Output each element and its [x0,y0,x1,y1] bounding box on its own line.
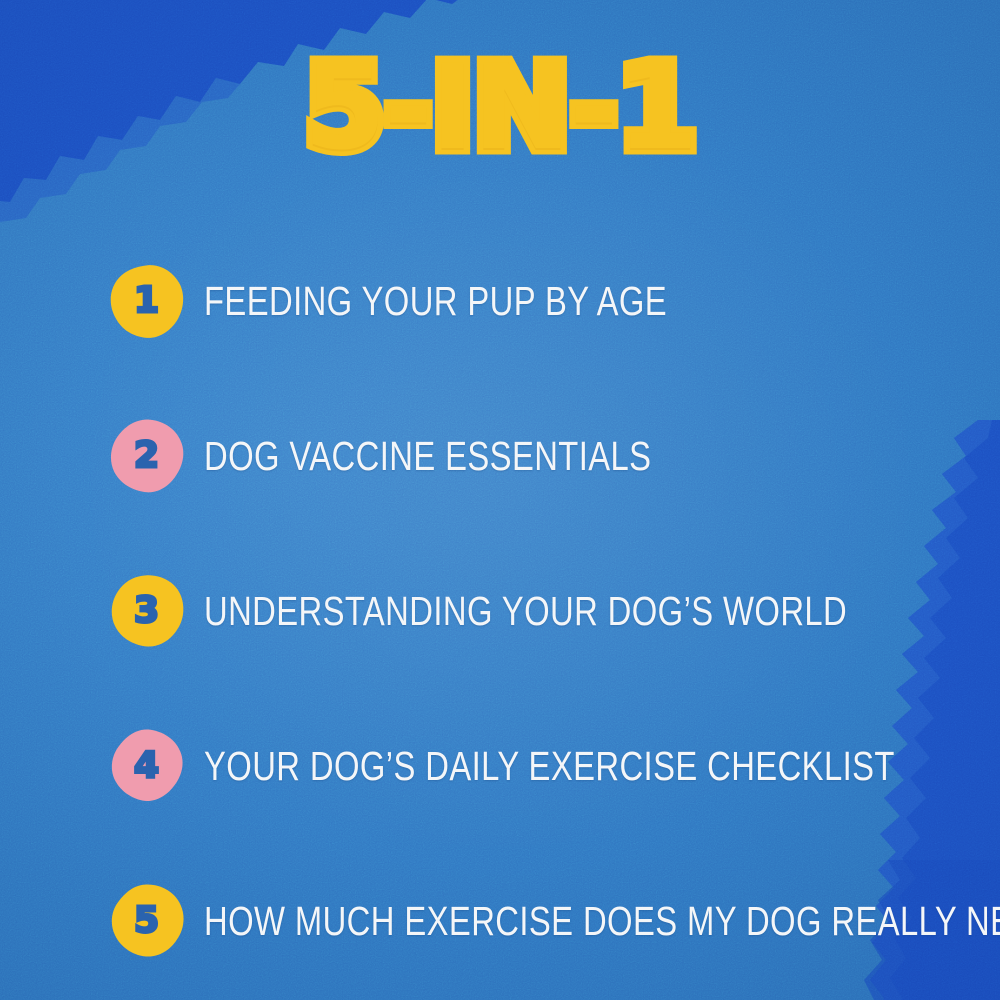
poster-canvas: 5-IN-1 1 FEEDING YOUR PUP BY AGE 2 DOG V… [0,0,1000,1000]
list-item-label: HOW MUCH EXERCISE DOES MY DOG REALLY NEE… [204,901,1000,942]
list-item[interactable]: 2 DOG VACCINE ESSENTIALS [0,379,1000,534]
list-item-label: FEEDING YOUR PUP BY AGE [204,281,667,322]
list-item[interactable]: 4 YOUR DOG’S DAILY EXERCISE CHECKLIST [0,689,1000,844]
list-item[interactable]: 1 FEEDING YOUR PUP BY AGE [0,224,1000,379]
badge-2: 2 [108,418,186,496]
badge-number: 1 [134,283,159,319]
badge-number: 4 [134,748,159,784]
title-block: 5-IN-1 [0,48,1000,166]
badge-number: 5 [134,903,159,939]
badge-number: 2 [134,438,159,474]
badge-1: 1 [108,263,186,341]
list-item[interactable]: 5 HOW MUCH EXERCISE DOES MY DOG REALLY N… [0,844,1000,999]
badge-number: 3 [134,593,159,629]
list-item[interactable]: 3 UNDERSTANDING YOUR DOG’S WORLD [0,534,1000,689]
list-item-label: UNDERSTANDING YOUR DOG’S WORLD [204,591,847,632]
list-item-label: YOUR DOG’S DAILY EXERCISE CHECKLIST [204,746,895,787]
badge-4: 4 [108,728,186,806]
badge-5: 5 [108,883,186,961]
badge-3: 3 [108,573,186,651]
topic-list: 1 FEEDING YOUR PUP BY AGE 2 DOG VACCINE … [0,224,1000,999]
poster-title: 5-IN-1 [304,48,697,166]
list-item-label: DOG VACCINE ESSENTIALS [204,436,651,477]
